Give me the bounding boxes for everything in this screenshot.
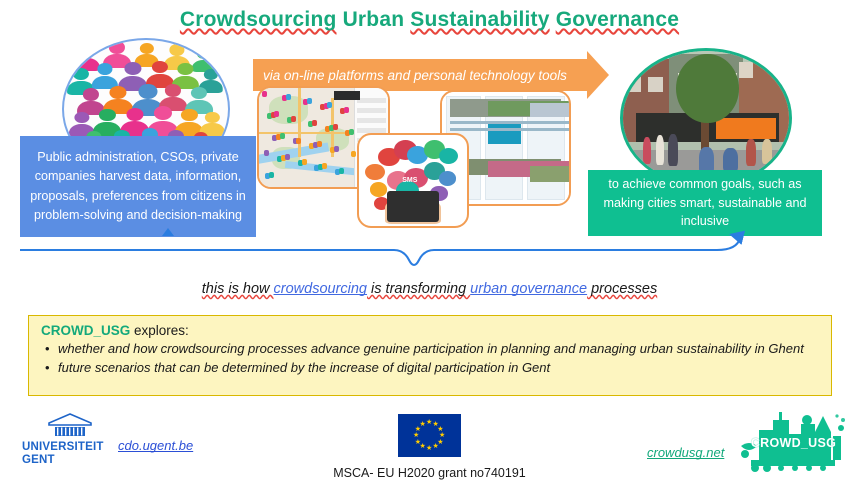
universiteit-gent-logo: UNIVERSITEIT GENT (22, 413, 118, 466)
crowd-usg-logo: CROWD_USG (737, 410, 849, 472)
map-pin (286, 94, 291, 100)
european-union-flag: ★★★★★★★★★★★★ (398, 414, 461, 457)
crowdusg-website-link[interactable]: crowdusg.net (647, 445, 724, 460)
harvest-data-textbox: Public administration, CSOs, private com… (20, 136, 256, 237)
eu-star: ★ (420, 421, 426, 428)
map-pin (291, 116, 296, 122)
banner-arrow-icon (587, 51, 609, 99)
map-pin (269, 172, 274, 178)
page-title: Crowdsourcing Urban Sustainability Gover… (0, 8, 859, 32)
map-pin (302, 159, 307, 165)
app-icon-bubble (439, 171, 456, 186)
title-word-governance: Governance (556, 8, 679, 31)
map-pin (285, 154, 290, 160)
map-pin (351, 151, 356, 157)
explores-heading: CROWD_USG explores: (41, 323, 819, 338)
explores-heading-rest: explores: (130, 323, 189, 338)
banner-label: via on-line platforms and personal techn… (253, 68, 567, 83)
explores-bullet-list: whether and how crowdsourcing processes … (41, 340, 819, 378)
common-goals-textbox: to achieve common goals, such as making … (588, 170, 822, 236)
eu-star: ★ (415, 439, 421, 446)
map-pin (262, 91, 267, 97)
caption-part1: this is how (202, 281, 274, 297)
title-word-sustainability: Sustainability (410, 8, 549, 31)
map-pin (307, 98, 312, 104)
harvest-data-text: Public administration, CSOs, private com… (26, 148, 250, 225)
explores-brand: CROWD_USG (41, 323, 130, 338)
crowd-usg-logo-word: CROWD_USG (746, 436, 841, 450)
eu-star: ★ (426, 445, 432, 452)
list-item: future scenarios that can be determined … (58, 359, 819, 377)
map-pin (333, 124, 338, 130)
map-pin (274, 111, 279, 117)
common-goals-text: to achieve common goals, such as making … (596, 175, 814, 232)
university-name-line1: UNIVERSITEIT (22, 441, 118, 454)
map-pin (344, 107, 349, 113)
map-pin (327, 102, 332, 108)
slide-canvas: Crowdsourcing Urban Sustainability Gover… (0, 0, 859, 485)
map-pin (349, 129, 354, 135)
title-word-crowdsourcing: Crowdsourcing (180, 8, 337, 31)
eu-star: ★ (426, 419, 432, 426)
caption-link-urban-governance[interactable]: urban governance (470, 281, 587, 297)
explores-callout-box: CROWD_USG explores: whether and how crow… (28, 315, 832, 396)
sms-bubble-label: SMS (402, 177, 417, 184)
list-item: whether and how crowdsourcing processes … (58, 340, 819, 358)
university-name: UNIVERSITEIT GENT (22, 441, 118, 466)
caption-sentence: this is how crowdsourcing is transformin… (0, 281, 859, 297)
caption-part2: is transforming (367, 281, 470, 297)
caption-part3: processes (587, 281, 657, 297)
map-pin (322, 163, 327, 169)
cdo-ugent-link[interactable]: cdo.ugent.be (118, 438, 193, 453)
app-icon-bubble (370, 182, 387, 197)
title-word-urban: Urban (343, 8, 405, 31)
map-pin (296, 138, 301, 144)
app-icon-bubble (439, 148, 458, 164)
map-pin (312, 120, 317, 126)
eu-star: ★ (413, 432, 419, 439)
university-building-icon (47, 413, 93, 439)
map-pin (280, 133, 285, 139)
tablet-icons-panel: SMS (357, 133, 469, 228)
caption-link-crowdsourcing[interactable]: crowdsourcing (274, 281, 368, 297)
eu-star: ★ (433, 443, 439, 450)
app-icon-bubble (365, 164, 384, 180)
university-name-line2: GENT (22, 454, 118, 467)
city-street-photo (620, 48, 792, 188)
map-pin (339, 168, 344, 174)
map-pin (334, 146, 339, 152)
grant-acknowledgement: MSCA- EU H2020 grant no740191 (0, 466, 859, 480)
